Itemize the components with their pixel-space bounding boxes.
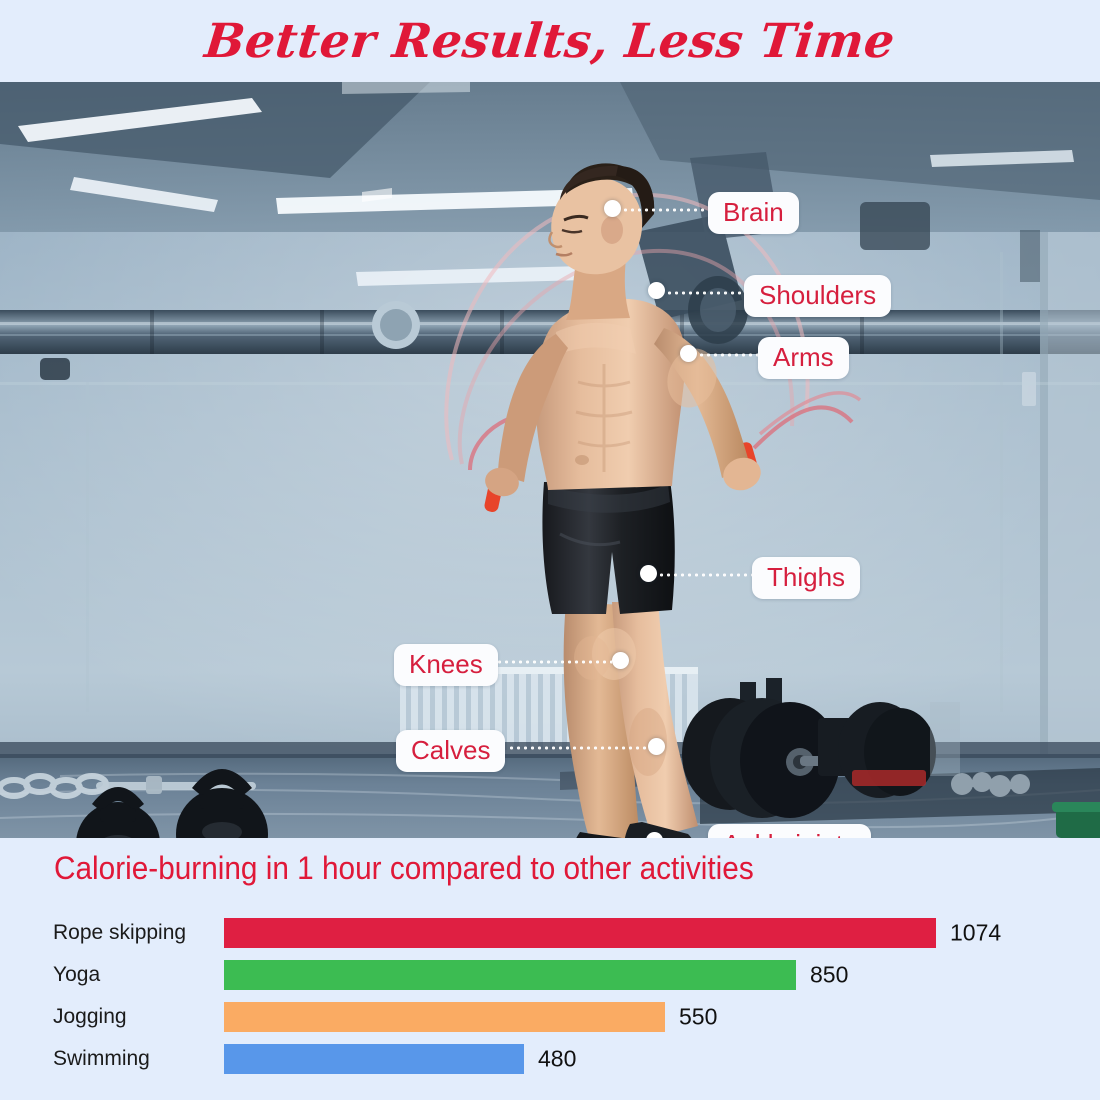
callout-label-calves: Calves — [411, 735, 490, 765]
marker-dot-knees — [612, 652, 629, 669]
callout-ankle-joints[interactable]: Ankle joints — [708, 824, 871, 838]
leader-line-knees — [496, 660, 612, 664]
bar-category-label: Rope skipping — [53, 921, 186, 945]
bar-track — [224, 1002, 665, 1032]
bar-category-label: Yoga — [53, 963, 100, 987]
chart-bars: Rope skipping 1074 Yoga 850 Jogging 550 … — [0, 912, 1100, 1080]
bar-value-label: 480 — [538, 1046, 576, 1073]
callout-knees[interactable]: Knees — [394, 644, 498, 686]
bar-fill-rope-skipping — [224, 918, 936, 948]
bar-track — [224, 918, 936, 948]
leader-line-arms — [698, 353, 758, 357]
callout-arms[interactable]: Arms — [758, 337, 849, 379]
callout-calves[interactable]: Calves — [396, 730, 505, 772]
callout-thighs[interactable]: Thighs — [752, 557, 860, 599]
callout-brain[interactable]: Brain — [708, 192, 799, 234]
bar-track — [224, 1044, 524, 1074]
leader-line-brain — [622, 208, 706, 212]
table-row: Swimming 480 — [0, 1038, 1100, 1080]
bar-category-label: Jogging — [53, 1005, 127, 1029]
bar-fill-yoga — [224, 960, 796, 990]
callout-label-arms: Arms — [773, 342, 834, 372]
table-row: Yoga 850 — [0, 954, 1100, 996]
marker-dot-thighs — [640, 565, 657, 582]
bar-fill-swimming — [224, 1044, 524, 1074]
hero-photo: Brain Shoulders Arms Thighs Knees Calves… — [0, 82, 1100, 838]
header-banner: Better Results, Less Time — [0, 0, 1100, 82]
page-title: Better Results, Less Time — [202, 14, 897, 69]
leader-line-thighs — [658, 573, 752, 577]
bar-fill-jogging — [224, 1002, 665, 1032]
callout-shoulders[interactable]: Shoulders — [744, 275, 891, 317]
marker-dot-shoulders — [648, 282, 665, 299]
callout-label-shoulders: Shoulders — [759, 280, 876, 310]
bar-value-label: 550 — [679, 1004, 717, 1031]
marker-dot-calves — [648, 738, 665, 755]
callout-label-brain: Brain — [723, 197, 784, 227]
leader-line-shoulders — [666, 291, 744, 295]
marker-dot-arms — [680, 345, 697, 362]
marker-dot-brain — [604, 200, 621, 217]
table-row: Rope skipping 1074 — [0, 912, 1100, 954]
table-row: Jogging 550 — [0, 996, 1100, 1038]
gym-scene-illustration — [0, 82, 1100, 838]
callout-label-knees: Knees — [409, 649, 483, 679]
callout-label-thighs: Thighs — [767, 562, 845, 592]
bar-value-label: 850 — [810, 962, 848, 989]
leader-line-calves — [508, 746, 648, 750]
chart-title: Calorie-burning in 1 hour compared to ot… — [54, 850, 754, 887]
callout-label-ankle-joints: Ankle joints — [723, 829, 856, 838]
bar-value-label: 1074 — [950, 920, 1001, 947]
calorie-chart: Calorie-burning in 1 hour compared to ot… — [0, 838, 1100, 1100]
bar-category-label: Swimming — [53, 1047, 150, 1071]
bar-track — [224, 960, 796, 990]
